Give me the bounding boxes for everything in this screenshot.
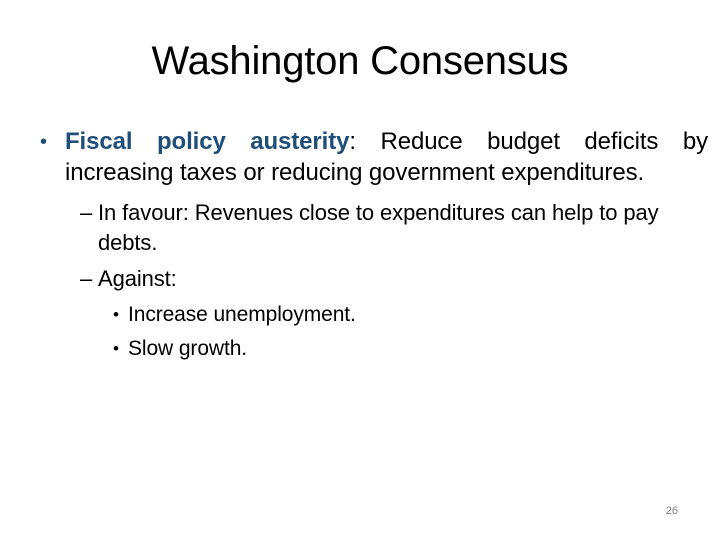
presentation-slide: Washington Consensus • Fiscal policy aus… [0, 0, 720, 540]
bullet-level3-text-slow-growth: Slow growth. [128, 334, 708, 364]
bullet-level2-text-against: Against: [98, 264, 708, 294]
bullet-dot-icon: • [113, 300, 128, 330]
bullet-level1-lead: Fiscal policy austerity [65, 128, 349, 155]
en-dash-bullet-icon: – [80, 264, 98, 294]
bullet-level1-text: Fiscal policy austerity: Reduce budget d… [65, 126, 708, 188]
bullet-level3-text-unemployment: Increase unemployment. [128, 300, 708, 330]
bullet-level3-item-slow-growth: • Slow growth. [113, 334, 708, 364]
slide-page-number: 26 [666, 505, 678, 518]
slide-body: • Fiscal policy austerity: Reduce budget… [36, 126, 708, 368]
bullet-level3-item-unemployment: • Increase unemployment. [113, 300, 708, 330]
bullet-dot-icon: • [113, 334, 128, 364]
bullet-level2-item-in-favour: – In favour: Revenues close to expenditu… [80, 198, 708, 258]
bullet-level2-item-against: – Against: [80, 264, 708, 294]
bullet-level2-text-in-favour: In favour: Revenues close to expenditure… [98, 198, 708, 258]
en-dash-bullet-icon: – [80, 198, 98, 228]
bullet-dot-icon: • [36, 126, 65, 158]
bullet-level1-item: • Fiscal policy austerity: Reduce budget… [36, 126, 708, 188]
page-title: Washington Consensus [40, 37, 680, 85]
